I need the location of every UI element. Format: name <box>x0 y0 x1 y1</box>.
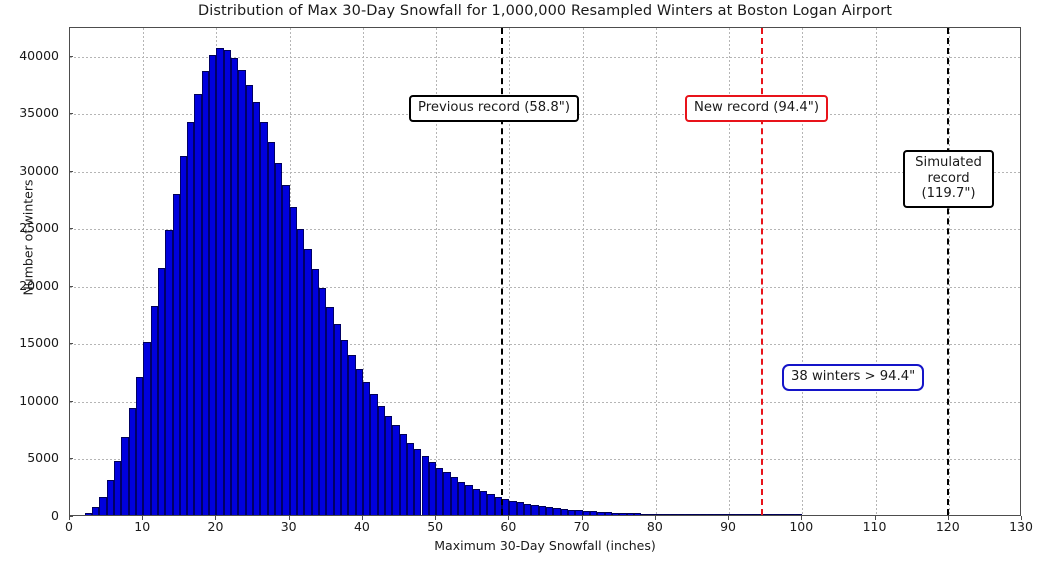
histogram-bar <box>546 507 553 515</box>
histogram-bar <box>216 48 223 515</box>
annotation-simulated-record-line2: record <box>912 171 985 187</box>
histogram-bar <box>151 306 158 515</box>
reference-line-simulated-record <box>947 28 949 515</box>
histogram-bar <box>209 55 216 515</box>
histogram-bar <box>231 58 238 515</box>
histogram-bar <box>649 514 656 515</box>
histogram-bar <box>143 342 150 515</box>
histogram-bar <box>326 307 333 515</box>
y-tick <box>69 516 73 517</box>
x-tick-label: 120 <box>918 519 978 534</box>
histogram-bar <box>224 50 231 515</box>
y-tick-label: 5000 <box>0 450 59 465</box>
y-tick <box>69 113 73 114</box>
histogram-bar <box>487 494 494 515</box>
y-tick-label: 0 <box>0 508 59 523</box>
histogram-bar <box>136 377 143 515</box>
histogram-bar <box>788 514 795 515</box>
y-tick <box>69 286 73 287</box>
histogram-bar <box>670 514 677 515</box>
histogram-bar <box>370 394 377 515</box>
histogram-bar <box>194 94 201 515</box>
histogram-bar <box>678 514 685 515</box>
histogram-bar <box>473 489 480 515</box>
y-tick <box>69 401 73 402</box>
histogram-bar <box>627 513 634 515</box>
histogram-bar <box>663 514 670 515</box>
histogram-bar <box>736 514 743 515</box>
annotation-previous-record: Previous record (58.8") <box>409 95 579 122</box>
x-tick-label: 40 <box>332 519 392 534</box>
histogram-bar <box>700 514 707 515</box>
y-tick-label: 35000 <box>0 105 59 120</box>
histogram-bar <box>173 194 180 515</box>
histogram-bar <box>282 185 289 515</box>
histogram-bar <box>356 369 363 515</box>
annotation-previous-record-text: Previous record (58.8") <box>418 100 570 115</box>
histogram-bar <box>400 434 407 515</box>
histogram-bar <box>246 85 253 515</box>
histogram-bar <box>129 408 136 515</box>
histogram-bar <box>304 249 311 515</box>
x-tick-label: 20 <box>185 519 245 534</box>
histogram-bar <box>707 514 714 515</box>
y-tick <box>69 343 73 344</box>
figure-canvas: Distribution of Max 30-Day Snowfall for … <box>0 0 1041 561</box>
x-tick-label: 60 <box>478 519 538 534</box>
histogram-bar <box>297 229 304 515</box>
y-tick <box>69 171 73 172</box>
histogram-bar <box>121 437 128 515</box>
histogram-bar <box>253 102 260 515</box>
x-axis-label: Maximum 30-Day Snowfall (inches) <box>69 538 1021 553</box>
histogram-bar <box>773 514 780 515</box>
histogram-bar <box>780 514 787 515</box>
histogram-bar <box>612 513 619 515</box>
x-tick-label: 70 <box>552 519 612 534</box>
histogram-bar <box>407 443 414 515</box>
histogram-bar <box>392 425 399 515</box>
histogram-bar <box>385 416 392 515</box>
histogram-bar <box>92 507 99 515</box>
histogram-bar <box>114 461 121 515</box>
x-tick-label: 130 <box>991 519 1041 534</box>
x-tick-label: 110 <box>845 519 905 534</box>
annotation-simulated-record-line1: Simulated <box>912 155 985 171</box>
annotation-winters-above-new-record: 38 winters > 94.4" <box>782 364 924 391</box>
y-tick-label: 15000 <box>0 335 59 350</box>
histogram-bar <box>187 122 194 516</box>
histogram-bar <box>363 382 370 515</box>
y-tick <box>69 56 73 57</box>
x-tick-label: 90 <box>698 519 758 534</box>
histogram-bar <box>656 514 663 515</box>
histogram-bar <box>605 512 612 515</box>
histogram-bar <box>722 514 729 515</box>
histogram-bar <box>517 502 524 515</box>
histogram-bar <box>107 480 114 515</box>
annotation-simulated-record: Simulated record (119.7") <box>903 150 994 208</box>
histogram-bar <box>597 512 604 515</box>
histogram-bar <box>634 513 641 515</box>
y-tick-label: 10000 <box>0 393 59 408</box>
histogram-bar <box>165 230 172 515</box>
histogram-bar <box>751 514 758 515</box>
histogram-bar <box>531 505 538 515</box>
histogram-bar <box>744 514 751 515</box>
x-tick-label: 100 <box>771 519 831 534</box>
histogram-bar <box>480 491 487 515</box>
x-tick-label: 30 <box>259 519 319 534</box>
histogram-bar <box>465 485 472 515</box>
histogram-bar <box>451 477 458 515</box>
histogram-bar <box>238 70 245 515</box>
histogram-bar <box>260 122 267 516</box>
histogram-bar <box>319 288 326 515</box>
histogram-bar <box>539 506 546 515</box>
histogram-bar <box>524 504 531 515</box>
histogram-bar <box>729 514 736 515</box>
histogram-bar <box>443 472 450 515</box>
histogram-bar <box>180 156 187 515</box>
histogram-bar <box>378 406 385 515</box>
x-tick-label: 50 <box>405 519 465 534</box>
histogram-bar <box>685 514 692 515</box>
histogram-bar <box>290 207 297 515</box>
histogram-bar <box>414 449 421 515</box>
annotation-simulated-record-line3: (119.7") <box>912 186 985 202</box>
histogram-bar <box>619 513 626 515</box>
y-tick <box>69 228 73 229</box>
histogram-bar <box>429 462 436 515</box>
annotation-winters-above-text: 38 winters > 94.4" <box>791 369 915 384</box>
histogram-bar <box>348 355 355 515</box>
histogram-bar <box>692 514 699 515</box>
y-tick-label: 40000 <box>0 48 59 63</box>
histogram-bar <box>714 514 721 515</box>
histogram-bar <box>561 509 568 515</box>
histogram-bar <box>158 268 165 515</box>
histogram-bar <box>458 482 465 515</box>
histogram-bar <box>334 324 341 515</box>
chart-title: Distribution of Max 30-Day Snowfall for … <box>69 3 1021 19</box>
histogram-bar <box>436 468 443 515</box>
histogram-bar <box>85 513 92 515</box>
histogram-bar <box>422 456 429 515</box>
y-axis-label: Number of winters <box>21 138 36 338</box>
histogram-bar <box>202 71 209 515</box>
histogram-bar <box>312 269 319 515</box>
histogram-bar <box>583 511 590 515</box>
histogram-bar <box>99 497 106 515</box>
histogram-bar <box>590 511 597 515</box>
histogram-bar <box>341 340 348 515</box>
histogram-bar <box>641 514 648 515</box>
histogram-bar <box>568 510 575 515</box>
x-tick-label: 10 <box>112 519 172 534</box>
x-tick-label: 80 <box>625 519 685 534</box>
histogram-bar <box>275 163 282 515</box>
annotation-new-record: New record (94.4") <box>685 95 828 122</box>
histogram-bar <box>795 514 802 515</box>
histogram-bar <box>575 510 582 515</box>
histogram-bar <box>509 501 516 515</box>
histogram-bar <box>502 499 509 515</box>
histogram-bar <box>553 508 560 515</box>
y-tick <box>69 458 73 459</box>
annotation-new-record-text: New record (94.4") <box>694 100 819 115</box>
histogram-bar <box>766 514 773 515</box>
histogram-bar <box>268 142 275 515</box>
